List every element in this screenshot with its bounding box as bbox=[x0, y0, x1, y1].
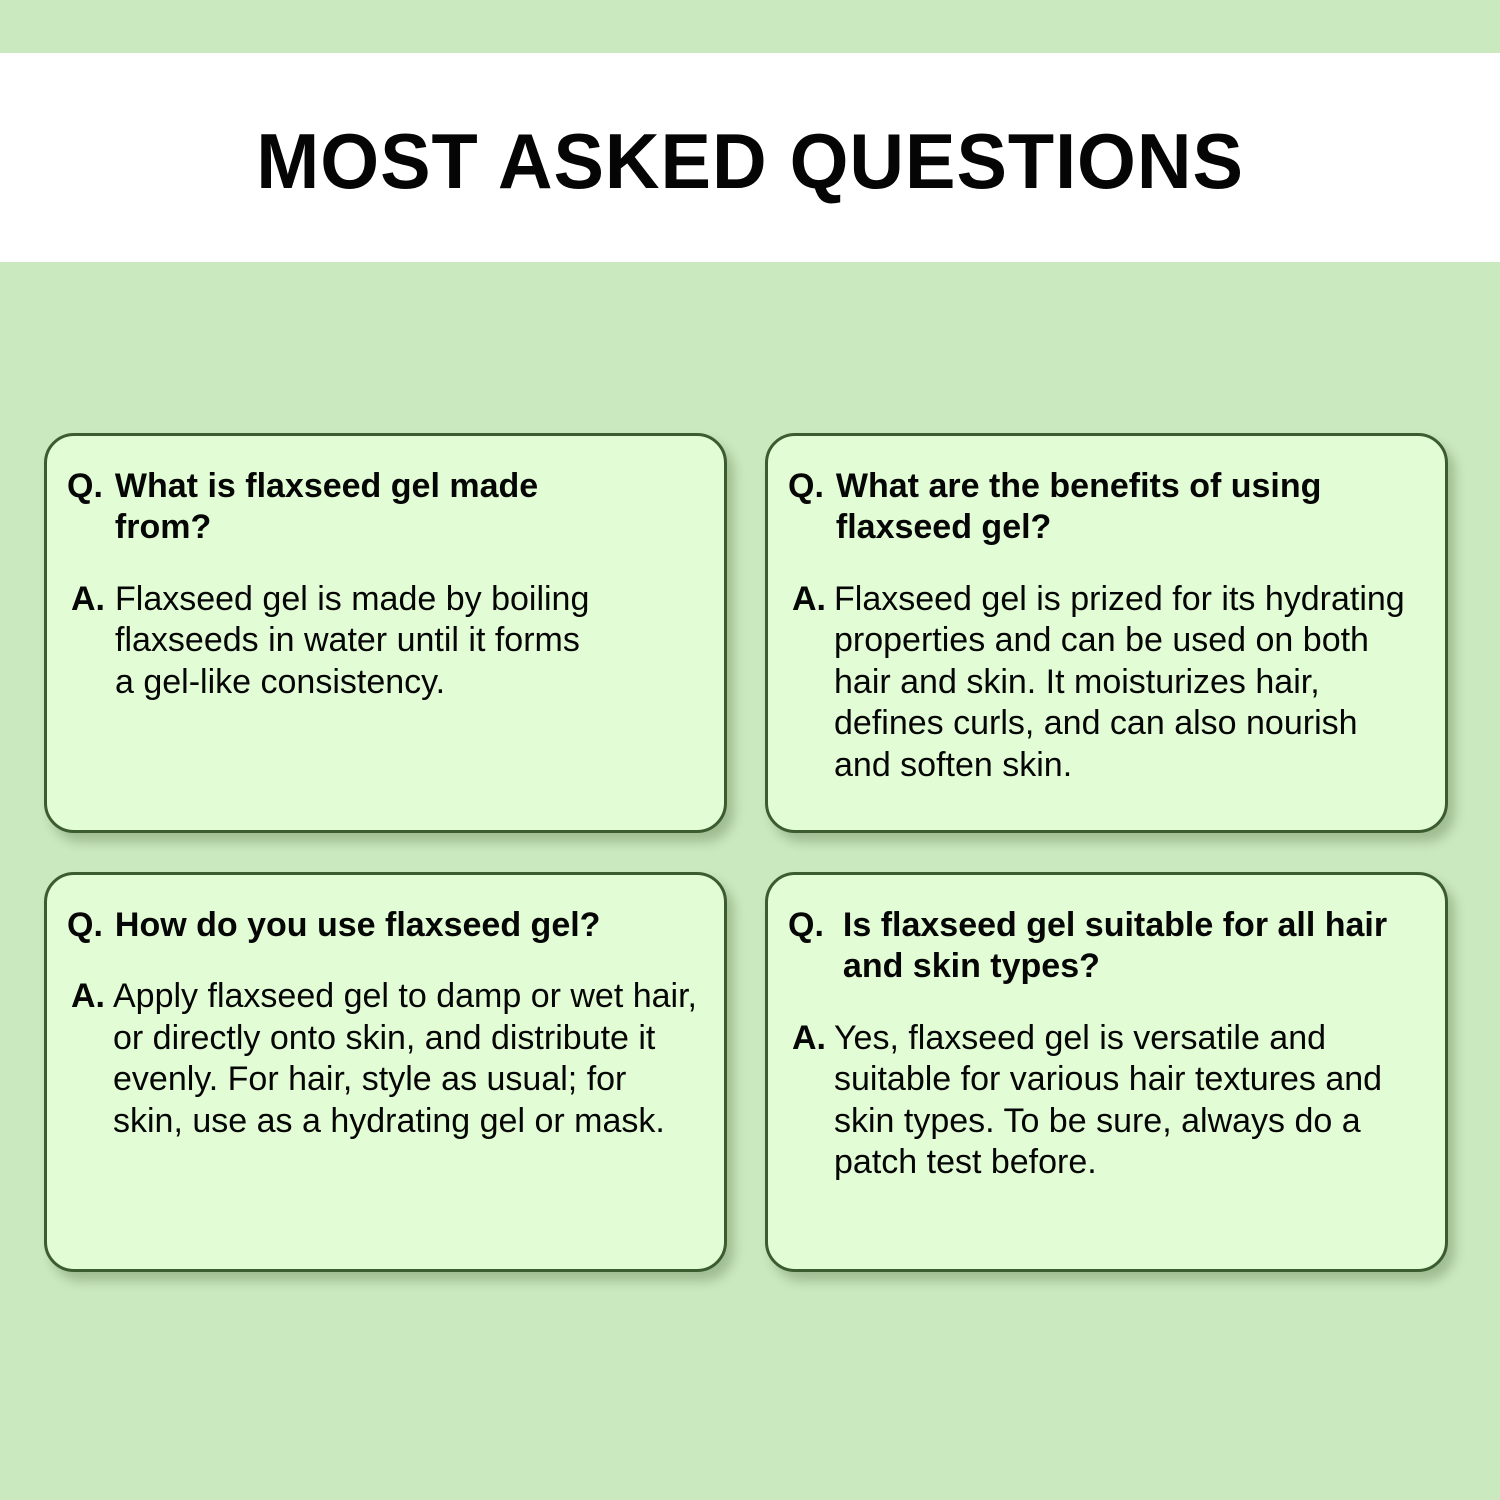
question-text: What is flaxseed gel made from? bbox=[115, 466, 595, 549]
faq-card-2[interactable]: Q. What are the benefits of using flaxse… bbox=[765, 433, 1448, 833]
question-row: Q. What is flaxseed gel made from? bbox=[67, 466, 698, 549]
answer-row: A. Yes, flaxseed gel is versatile and su… bbox=[788, 1018, 1419, 1184]
question-text: What are the benefits of using flaxseed … bbox=[836, 466, 1419, 549]
page-title: MOST ASKED QUESTIONS bbox=[256, 116, 1244, 200]
faq-card-3[interactable]: Q. How do you use flaxseed gel? A. Apply… bbox=[44, 872, 727, 1272]
faq-card-grid: Q. What is flaxseed gel made from? A. Fl… bbox=[44, 433, 1448, 1272]
question-marker: Q. bbox=[788, 905, 843, 946]
question-row: Q. Is flaxseed gel suitable for all hair… bbox=[788, 905, 1419, 988]
question-text: How do you use flaxseed gel? bbox=[115, 905, 698, 946]
answer-row: A. Apply flaxseed gel to damp or wet hai… bbox=[67, 976, 698, 1142]
question-row: Q. How do you use flaxseed gel? bbox=[67, 905, 698, 946]
answer-text: Yes, flaxseed gel is versatile and suita… bbox=[834, 1018, 1419, 1184]
answer-row: A. Flaxseed gel is prized for its hydrat… bbox=[788, 579, 1419, 786]
answer-text: Flaxseed gel is made by boiling flaxseed… bbox=[115, 579, 595, 703]
faq-card-1[interactable]: Q. What is flaxseed gel made from? A. Fl… bbox=[44, 433, 727, 833]
question-text: Is flaxseed gel suitable for all hair an… bbox=[843, 905, 1419, 988]
answer-row: A. Flaxseed gel is made by boiling flaxs… bbox=[67, 579, 698, 703]
question-marker: Q. bbox=[67, 466, 115, 507]
header-band: MOST ASKED QUESTIONS bbox=[0, 53, 1500, 262]
answer-marker: A. bbox=[67, 579, 115, 620]
answer-marker: A. bbox=[788, 1018, 834, 1059]
question-marker: Q. bbox=[788, 466, 836, 507]
faq-card-4[interactable]: Q. Is flaxseed gel suitable for all hair… bbox=[765, 872, 1448, 1272]
answer-marker: A. bbox=[788, 579, 834, 620]
top-green-strip bbox=[0, 0, 1500, 53]
question-marker: Q. bbox=[67, 905, 115, 946]
question-row: Q. What are the benefits of using flaxse… bbox=[788, 466, 1419, 549]
answer-text: Apply flaxseed gel to damp or wet hair, … bbox=[113, 976, 698, 1142]
answer-marker: A. bbox=[67, 976, 113, 1017]
answer-text: Flaxseed gel is prized for its hydrating… bbox=[834, 579, 1419, 786]
